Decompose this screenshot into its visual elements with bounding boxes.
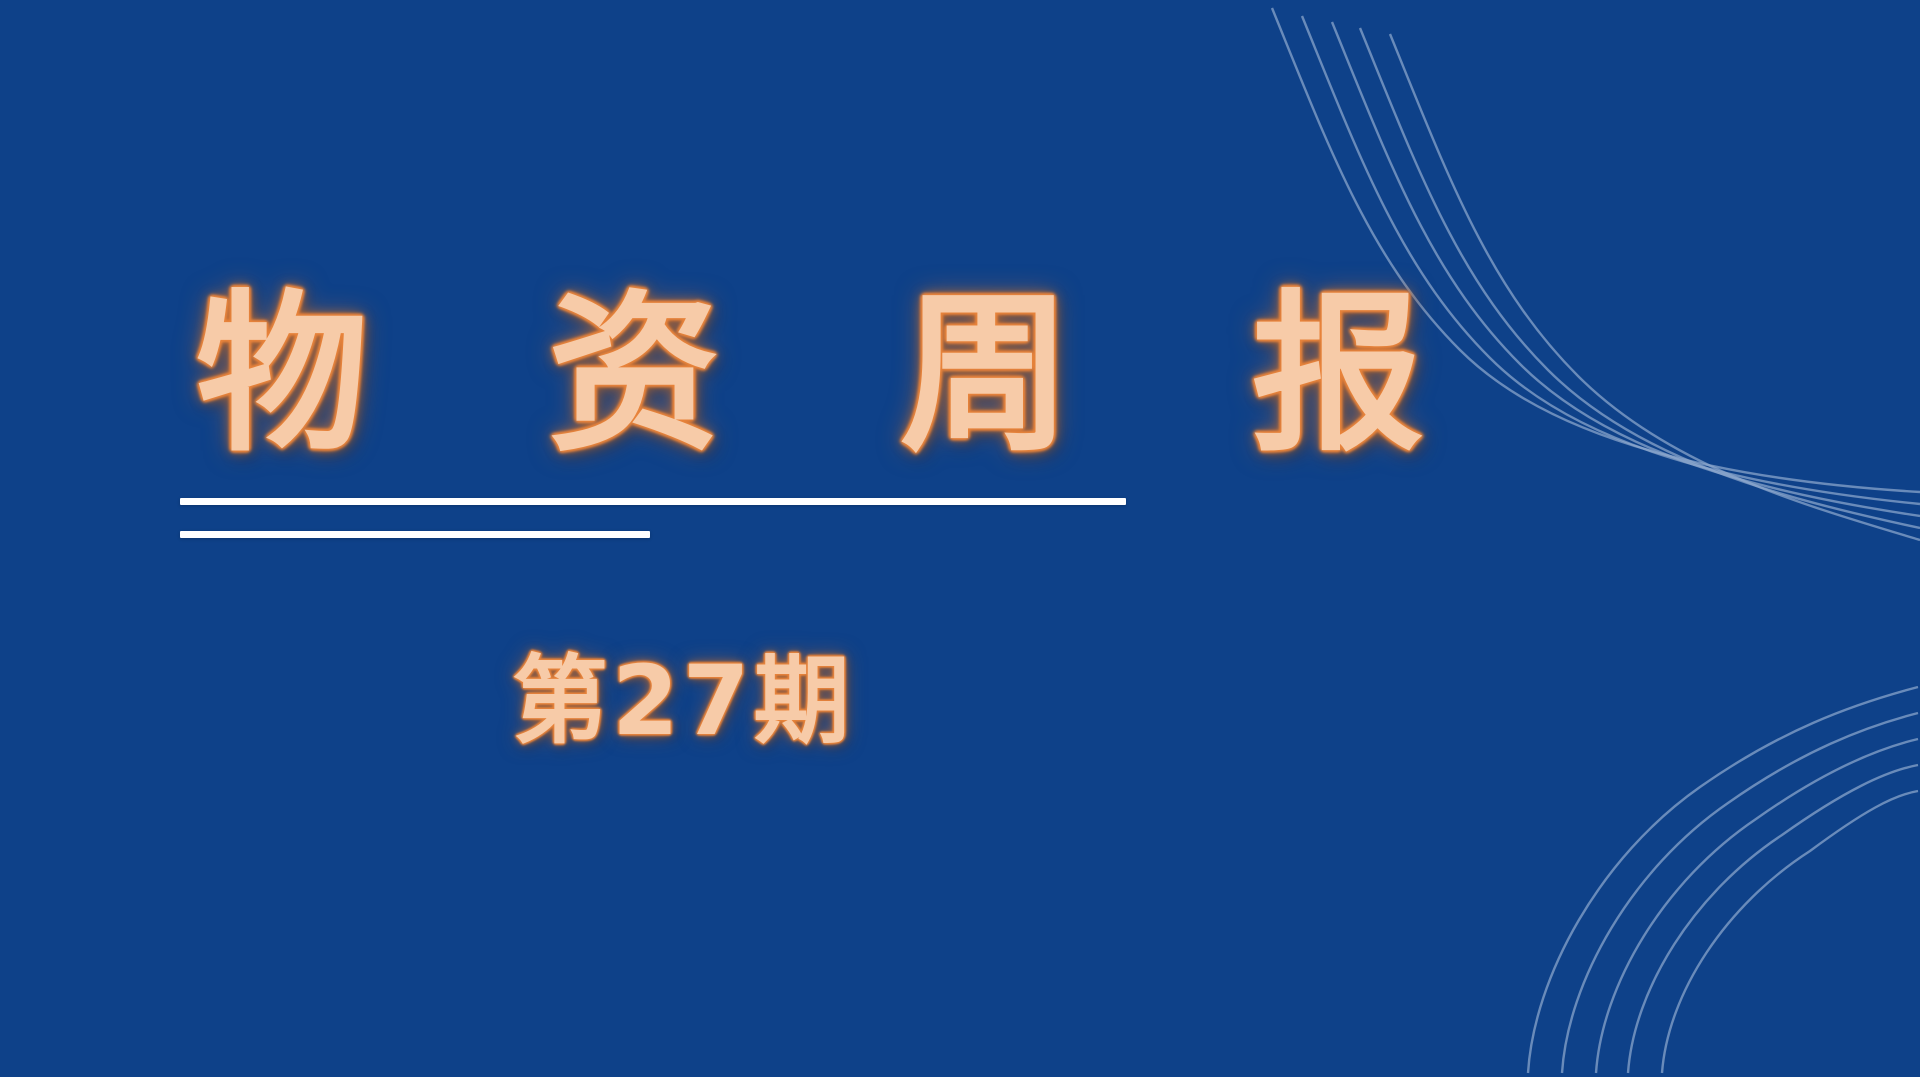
issue-subtitle: 第27期 [512, 648, 854, 756]
page-title: 物 资 周 报 [196, 282, 1484, 468]
cover-content: 物 资 周 报 第27期 [0, 0, 1920, 1077]
title-underline-group [180, 498, 1126, 538]
title-underline-long [180, 498, 1126, 505]
cover-slide: 物 资 周 报 第27期 [0, 0, 1920, 1077]
title-underline-short [180, 531, 650, 538]
